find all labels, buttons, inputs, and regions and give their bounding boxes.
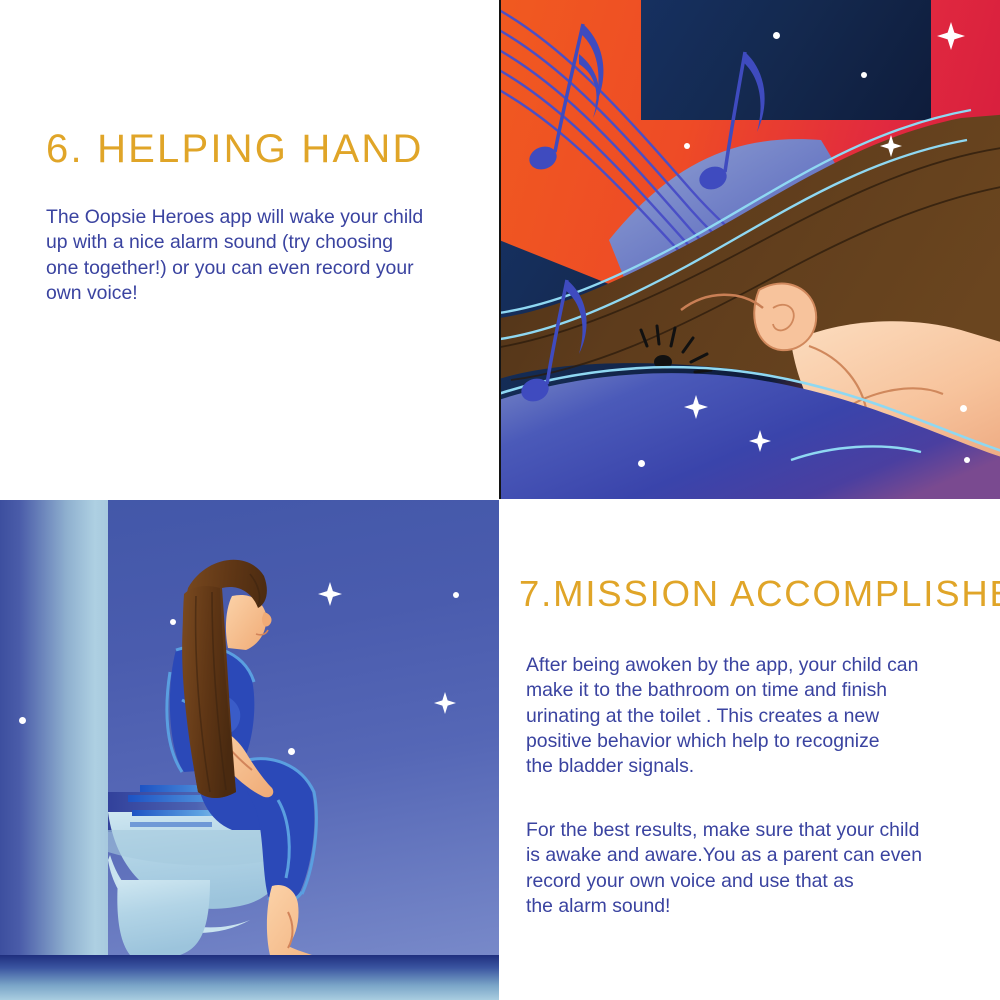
star-sparkle	[937, 22, 965, 50]
step-6-paragraph: The Oopsie Heroes app will wake your chi…	[46, 205, 486, 306]
step-7-title: 7.MISSION ACCOMPLISHED	[519, 573, 1000, 615]
panel-divider	[499, 0, 501, 499]
child-and-toilet	[0, 500, 499, 1000]
star-dot	[861, 72, 867, 78]
star-dot	[170, 619, 176, 625]
step-6-text-panel: 6. HELPING HAND The Oopsie Heroes app wi…	[0, 0, 500, 499]
star-dot	[638, 460, 645, 467]
step-6-title: 6. HELPING HAND	[46, 127, 424, 172]
star-sparkle	[684, 395, 708, 419]
step-7-illustration	[0, 500, 499, 1000]
star-sparkle	[749, 430, 771, 452]
star-sparkle	[318, 582, 342, 606]
step-6-illustration	[501, 0, 1000, 499]
star-dot	[773, 32, 780, 39]
star-dot	[684, 143, 690, 149]
infographic-page: 6. HELPING HAND The Oopsie Heroes app wi…	[0, 0, 1000, 1000]
step-7-paragraph-1: After being awoken by the app, your chil…	[526, 653, 996, 780]
star-dot	[960, 405, 967, 412]
nose	[262, 612, 271, 627]
star-dot	[964, 457, 970, 463]
bedroom-wall-and-figure	[501, 0, 1000, 499]
star-sparkle	[434, 692, 456, 714]
bathroom-floor	[0, 955, 499, 1000]
star-dot	[288, 748, 295, 755]
star-sparkle	[880, 135, 902, 157]
star-dot	[453, 592, 459, 598]
step-7-paragraph-2: For the best results, make sure that you…	[526, 818, 996, 919]
star-dot	[19, 717, 26, 724]
ear	[754, 284, 816, 351]
